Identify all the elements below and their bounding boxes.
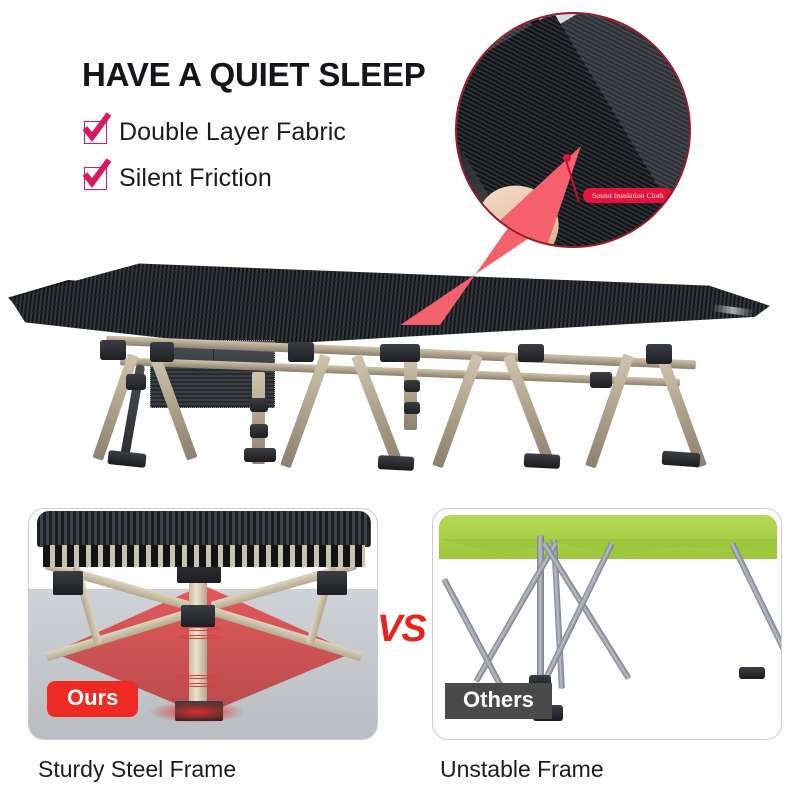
feature-item: Silent Friction (84, 159, 434, 197)
frame-bracket (126, 374, 146, 390)
cot-deck (37, 511, 371, 547)
frame-bracket (53, 571, 83, 595)
frame-bracket (317, 571, 347, 595)
frame-foot (244, 448, 276, 462)
frame-bracket (288, 342, 314, 362)
checkbox-checked-icon (84, 167, 107, 190)
product-image-cot (0, 252, 800, 492)
frame-bracket (518, 344, 544, 362)
comparison-panel-ours: Ours (28, 508, 378, 740)
frame-foot (739, 667, 765, 679)
stress-ring (179, 675, 219, 679)
frame-bracket (590, 372, 612, 388)
frame-foot (524, 453, 561, 469)
frame-bracket (250, 424, 268, 438)
frame-bracket (100, 340, 126, 360)
zoom-detail-circle: Sound Insulation Cloth (455, 12, 691, 248)
frame-bracket (404, 402, 420, 414)
frame-bracket (646, 344, 672, 364)
feature-label: Silent Friction (119, 164, 272, 193)
frame-foot (378, 455, 415, 471)
sound-insulation-label: Sound Insulation Cloth (583, 188, 673, 203)
stress-ring (179, 683, 219, 687)
frame-bracket (181, 605, 215, 627)
feature-list: Double Layer Fabric Silent Friction (84, 113, 434, 205)
infographic-page: HAVE A QUIET SLEEP Double Layer Fabric S… (0, 0, 800, 800)
frame-foot (107, 450, 146, 468)
stress-ring (179, 635, 219, 639)
badge-others: Others (445, 683, 552, 719)
feature-label: Double Layer Fabric (119, 118, 346, 147)
caption-ours: Sturdy Steel Frame (38, 756, 236, 783)
page-title: HAVE A QUIET SLEEP (82, 56, 426, 94)
frame-bracket (404, 380, 420, 392)
frame-center-post (404, 358, 417, 430)
cot-slats (43, 545, 365, 567)
badge-ours: Ours (47, 681, 138, 717)
frame-bracket (380, 344, 420, 362)
checkbox-checked-icon (84, 121, 107, 144)
stress-ring (179, 627, 219, 631)
feature-item: Double Layer Fabric (84, 113, 434, 151)
comparison-panel-others: Others (432, 508, 782, 740)
caption-others: Unstable Frame (440, 756, 604, 783)
frame-leg (585, 353, 634, 468)
frame-cross-brace (729, 542, 782, 706)
frame-foot (662, 451, 701, 468)
frame-bracket (250, 398, 268, 412)
load-shadow (149, 701, 245, 723)
vs-separator: VS (377, 608, 426, 651)
frame-leg (503, 354, 556, 468)
frame-bracket (150, 342, 174, 362)
frame-leg (537, 535, 544, 681)
